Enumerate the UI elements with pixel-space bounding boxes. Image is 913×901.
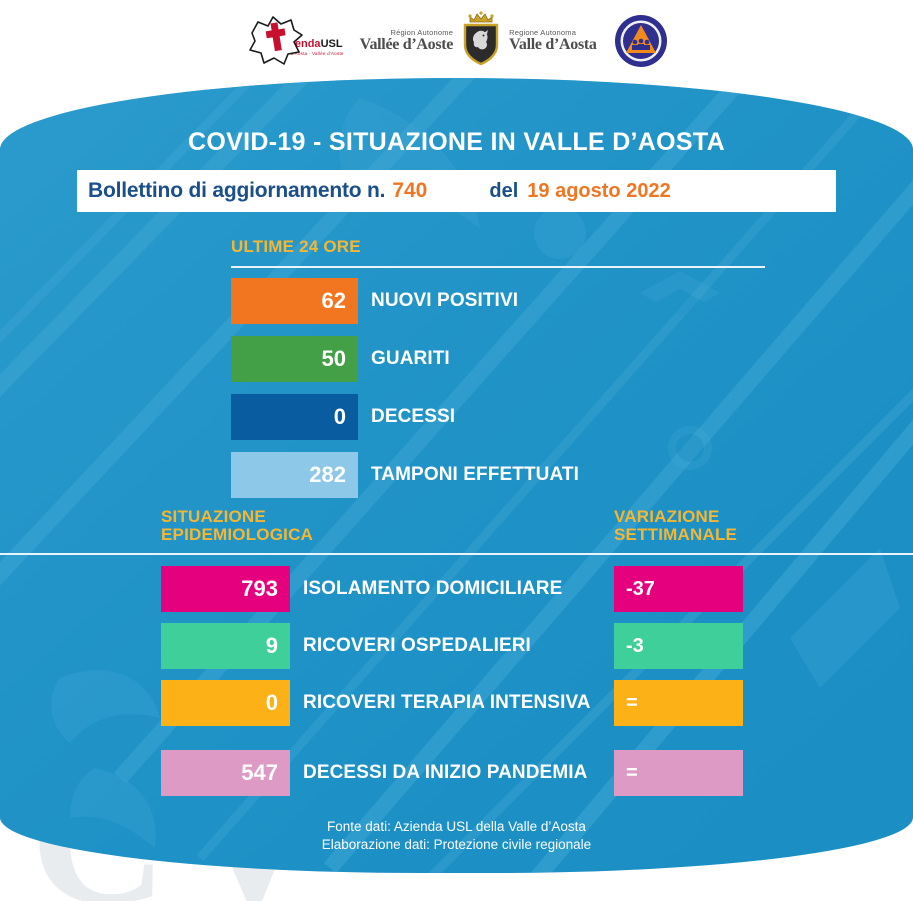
- variation-value-terapia-intensiva: =: [626, 692, 638, 715]
- page-title: COVID-19 - SITUAZIONE IN VALLE D’AOSTA: [0, 128, 913, 157]
- stat-label-decessi-inizio-pandemia: DECESSI DA INIZIO PANDEMIA: [303, 762, 587, 784]
- region-french-big: Vallée d’Aoste: [360, 37, 453, 53]
- variation-bar-isolamento-domiciliare: -37: [614, 566, 743, 612]
- bulletin-label: Bollettino di aggiornamento n.: [88, 179, 385, 203]
- stat-value-guariti: 50: [322, 346, 346, 372]
- stat-row-terapia-intensiva: 0 RICOVERI TERAPIA INTENSIVA: [161, 680, 591, 726]
- section-rule-last24h: [231, 266, 765, 268]
- region-french-small: Région Autonome: [390, 29, 453, 37]
- stat-value-isolamento-domiciliare: 793: [241, 576, 278, 602]
- logo-azienda-usl: AziendaUSL Valle d'Aosta · Vallée d'Aost…: [244, 13, 343, 69]
- stat-bar-guariti: 50: [231, 336, 358, 382]
- stat-bar-tamponi: 282: [231, 452, 358, 498]
- stat-row-nuovi-positivi: 62 NUOVI POSITIVI: [231, 278, 518, 324]
- stat-bar-decessi-inizio-pandemia: 547: [161, 750, 290, 796]
- regione-shield-icon: [458, 11, 504, 72]
- stat-bar-ricoveri-ospedalieri: 9: [161, 623, 290, 669]
- logo-strip: AziendaUSL Valle d'Aosta · Vallée d'Aost…: [0, 0, 913, 82]
- section-heading-epi-line1: SITUAZIONE: [161, 507, 266, 526]
- main-blue-panel: COVID-19 - SITUAZIONE IN VALLE D’AOSTA B…: [0, 78, 913, 873]
- stat-label-tamponi: TAMPONI EFFETTUATI: [371, 464, 579, 486]
- stat-value-tamponi: 282: [309, 462, 346, 488]
- variation-bar-ricoveri-ospedalieri: -3: [614, 623, 743, 669]
- footer-line-elaboration: Elaborazione dati: Protezione civile reg…: [0, 836, 913, 854]
- stat-label-decessi: DECESSI: [371, 406, 455, 428]
- variation-value-ricoveri-ospedalieri: -3: [626, 635, 644, 658]
- stat-bar-decessi: 0: [231, 394, 358, 440]
- azienda-usl-region-outline-icon: [244, 13, 306, 69]
- stat-row-isolamento-domiciliare: 793 ISOLAMENTO DOMICILIARE: [161, 566, 562, 612]
- variation-value-decessi-inizio-pandemia: =: [626, 762, 638, 785]
- stat-label-terapia-intensiva: RICOVERI TERAPIA INTENSIVA: [303, 692, 591, 714]
- stat-row-tamponi: 282 TAMPONI EFFETTUATI: [231, 452, 579, 498]
- stat-row-decessi-inizio-pandemia: 547 DECESSI DA INIZIO PANDEMIA: [161, 750, 587, 796]
- stat-label-guariti: GUARITI: [371, 348, 450, 370]
- stat-row-decessi: 0 DECESSI: [231, 394, 455, 440]
- bulletin-bar: Bollettino di aggiornamento n. 740 del 1…: [77, 170, 836, 212]
- section-rule-epidemiologica: [0, 553, 913, 555]
- footer-line-source: Fonte dati: Azienda USL della Valle d’Ao…: [0, 818, 913, 836]
- bulletin-del-label: del: [489, 180, 518, 203]
- stat-value-ricoveri-ospedalieri: 9: [266, 633, 278, 659]
- usl-name-bold: USL: [321, 38, 343, 50]
- region-italian-small: Regione Autonoma: [509, 29, 597, 37]
- variation-value-isolamento-domiciliare: -37: [626, 578, 655, 601]
- region-italian-big: Valle d’Aosta: [509, 37, 597, 53]
- stat-value-nuovi-positivi: 62: [322, 288, 346, 314]
- logo-protezione-civile: [613, 13, 669, 69]
- stat-bar-terapia-intensiva: 0: [161, 680, 290, 726]
- region-text-french: Région Autonome Vallée d’Aoste: [360, 29, 453, 54]
- section-heading-var-line1: VARIAZIONE: [614, 507, 720, 526]
- stat-value-terapia-intensiva: 0: [266, 690, 278, 716]
- variation-bar-decessi-inizio-pandemia: =: [614, 750, 743, 796]
- variation-bar-terapia-intensiva: =: [614, 680, 743, 726]
- stat-label-isolamento-domiciliare: ISOLAMENTO DOMICILIARE: [303, 578, 562, 600]
- section-heading-variazione: VARIAZIONE SETTIMANALE: [614, 508, 737, 544]
- stat-label-ricoveri-ospedalieri: RICOVERI OSPEDALIERI: [303, 635, 531, 657]
- stat-value-decessi: 0: [334, 404, 346, 430]
- section-heading-epi-line2: EPIDEMIOLOGICA: [161, 525, 313, 544]
- footer-credits: Fonte dati: Azienda USL della Valle d’Ao…: [0, 818, 913, 854]
- region-text-italian: Regione Autonoma Valle d’Aosta: [509, 29, 597, 54]
- section-heading-var-line2: SETTIMANALE: [614, 525, 737, 544]
- stat-label-nuovi-positivi: NUOVI POSITIVI: [371, 290, 518, 312]
- protezione-civile-icon: [613, 13, 669, 69]
- panel-content: COVID-19 - SITUAZIONE IN VALLE D’AOSTA B…: [0, 78, 913, 873]
- bulletin-number: 740: [392, 179, 427, 203]
- stat-row-guariti: 50 GUARITI: [231, 336, 450, 382]
- section-heading-epidemiologica: SITUAZIONE EPIDEMIOLOGICA: [161, 508, 313, 544]
- bulletin-date: 19 agosto 2022: [527, 180, 670, 203]
- stat-row-ricoveri-ospedalieri: 9 RICOVERI OSPEDALIERI: [161, 623, 531, 669]
- section-heading-last24h: ULTIME 24 ORE: [231, 238, 361, 256]
- logo-regione-valle-daosta: Région Autonome Vallée d’Aoste Regione A…: [360, 11, 597, 72]
- stat-value-decessi-inizio-pandemia: 547: [241, 760, 278, 786]
- stat-bar-nuovi-positivi: 62: [231, 278, 358, 324]
- stat-bar-isolamento-domiciliare: 793: [161, 566, 290, 612]
